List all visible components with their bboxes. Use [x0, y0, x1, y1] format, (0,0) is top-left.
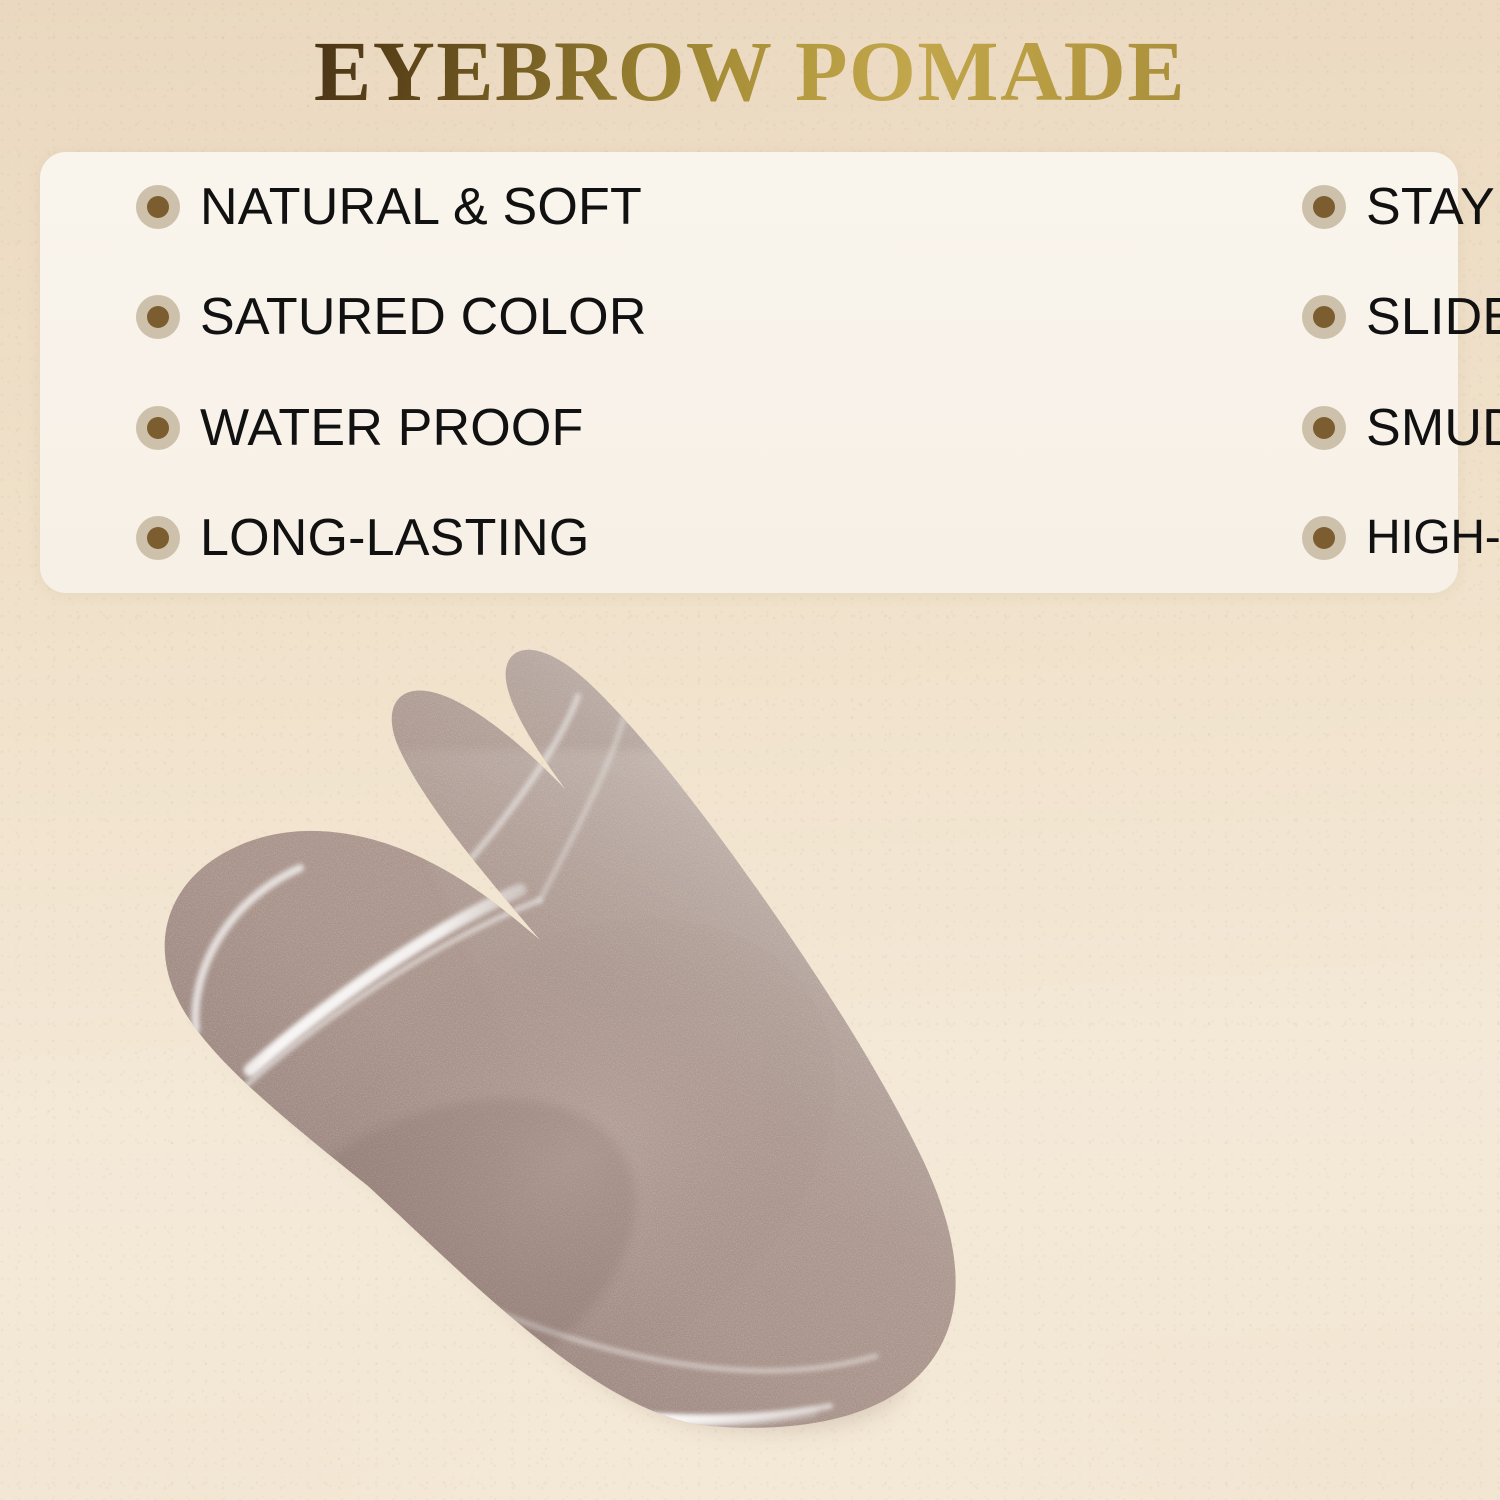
feature-label: LONG-LASTING: [200, 512, 590, 564]
product-swatch: [0, 600, 1500, 1500]
bullet-icon: [1302, 516, 1346, 560]
bullet-icon: [136, 406, 180, 450]
feature-item-high-pigment-formula: HIGH-PIGMENT FORMULA: [632, 514, 1458, 562]
bullet-icon: [1302, 406, 1346, 450]
feature-label: STAY ALL DAY: [1366, 181, 1500, 233]
feature-item-stay-all-day: STAY ALL DAY: [632, 181, 1458, 233]
feature-grid: NATURAL & SOFT STAY ALL DAY SATURED COLO…: [40, 152, 1458, 593]
feature-label: WATER PROOF: [200, 402, 584, 454]
feature-label: SMUDGE PROOF: [1366, 402, 1500, 454]
feature-label: HIGH-PIGMENT FORMULA: [1366, 514, 1500, 562]
product-feature-graphic: EYEBROW POMADE NATURAL & SOFT STAY ALL D…: [0, 0, 1500, 1500]
bullet-icon: [136, 516, 180, 560]
feature-label: SLIDE SMOOTHLY: [1366, 291, 1500, 343]
bullet-icon: [136, 185, 180, 229]
bullet-icon: [1302, 295, 1346, 339]
feature-item-satured-color: SATURED COLOR: [40, 291, 632, 343]
feature-label: NATURAL & SOFT: [200, 181, 642, 233]
swatch-body: [0, 600, 1500, 1500]
feature-item-smudge-proof: SMUDGE PROOF: [632, 402, 1458, 454]
feature-card: NATURAL & SOFT STAY ALL DAY SATURED COLO…: [40, 152, 1458, 593]
bullet-icon: [136, 295, 180, 339]
feature-item-water-proof: WATER PROOF: [40, 402, 632, 454]
feature-label: SATURED COLOR: [200, 291, 647, 343]
page-title: EYEBROW POMADE: [0, 26, 1500, 116]
feature-item-long-lasting: LONG-LASTING: [40, 512, 632, 564]
page-title-text: EYEBROW POMADE: [314, 26, 1186, 116]
feature-item-natural-and-soft: NATURAL & SOFT: [40, 181, 632, 233]
feature-item-slide-smoothly: SLIDE SMOOTHLY: [632, 291, 1458, 343]
bullet-icon: [1302, 185, 1346, 229]
